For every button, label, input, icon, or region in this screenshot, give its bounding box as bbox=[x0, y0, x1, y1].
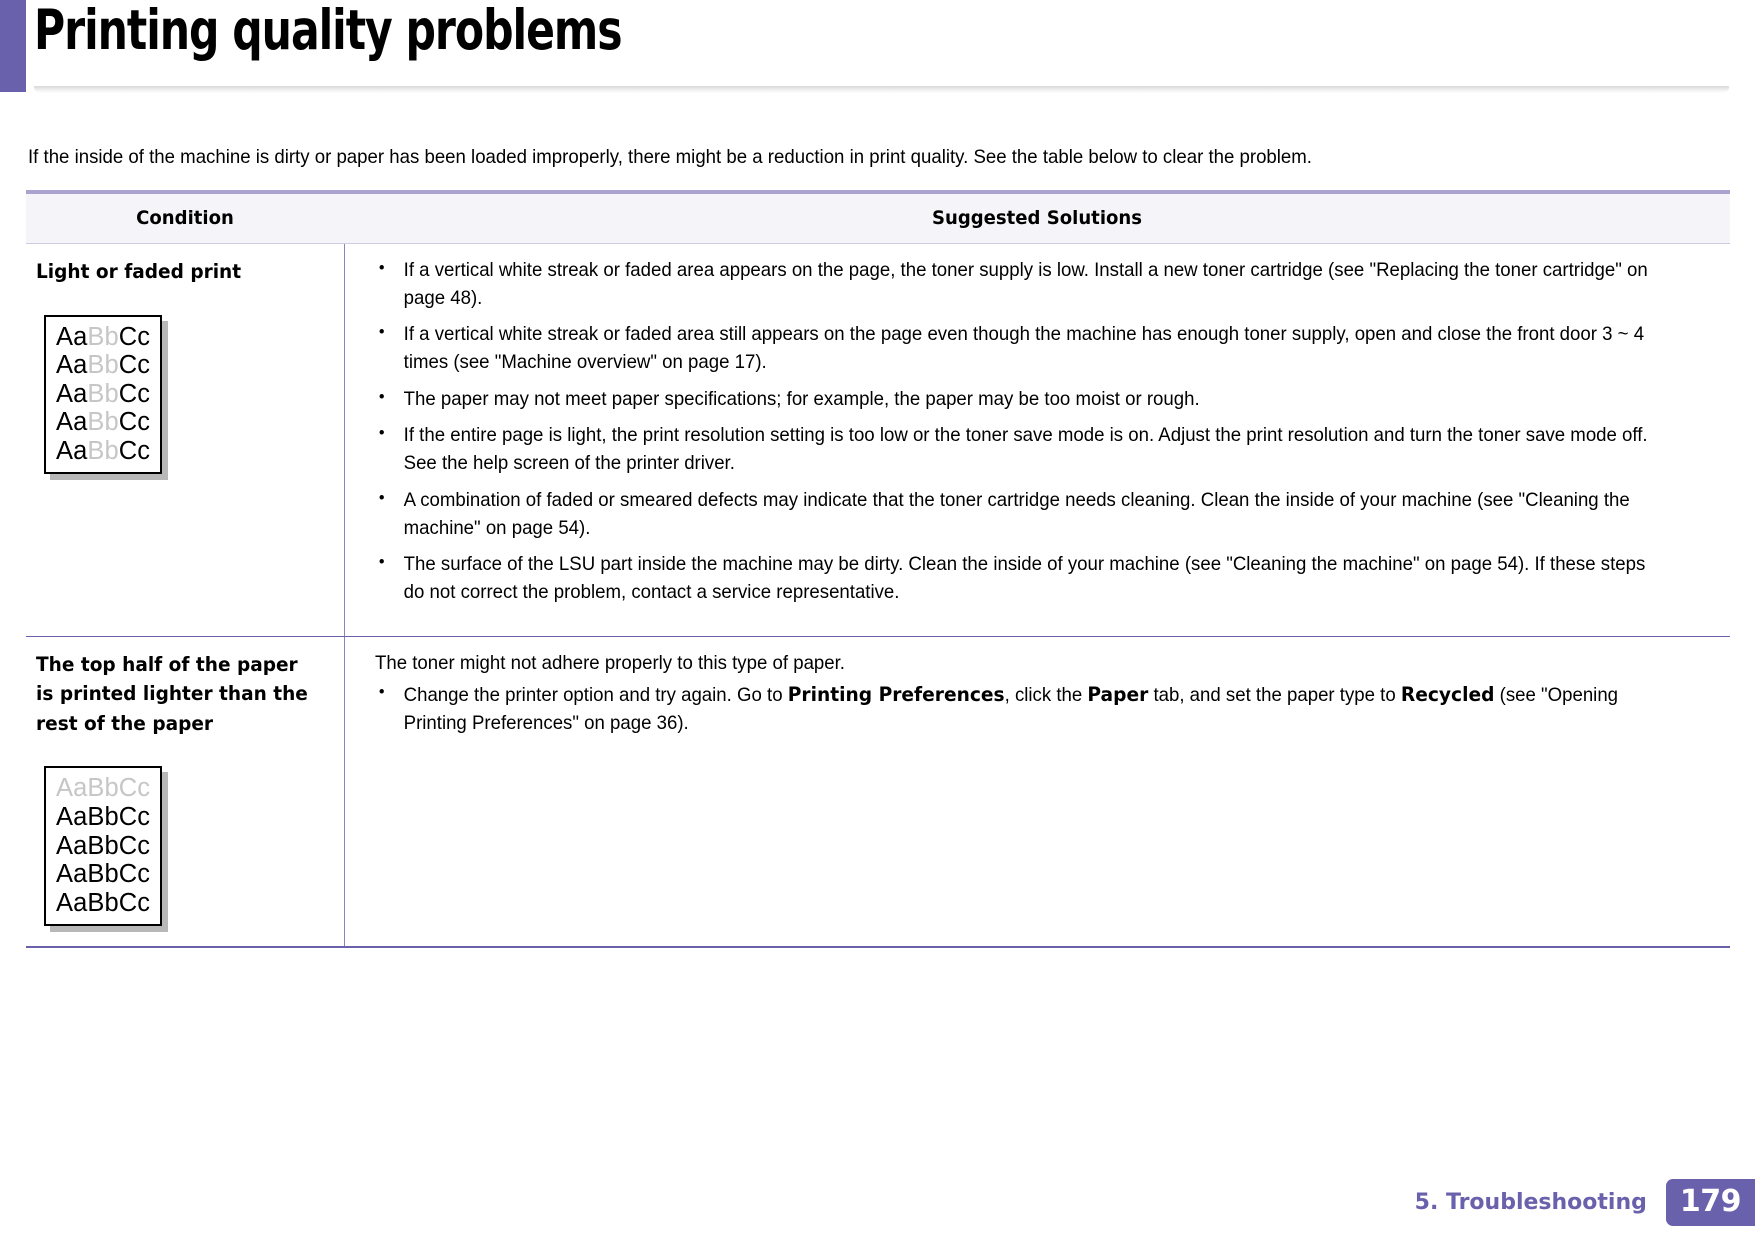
bullet-text: Change the printer option and try again.… bbox=[403, 684, 787, 706]
sample-text-segment: Aa bbox=[56, 380, 87, 408]
sample-text-segment: Aa bbox=[56, 323, 87, 351]
solution-bullet: If a vertical white streak or faded area… bbox=[375, 321, 1658, 376]
sample-page: AaBbCcAaBbCcAaBbCcAaBbCcAaBbCc bbox=[44, 766, 162, 926]
sample-text-segment: Bb bbox=[87, 380, 118, 408]
table-body: Light or faded print AaBbCcAaBbCcAaBbCcA… bbox=[26, 244, 1730, 948]
cell-condition: The top half of the paper is printed lig… bbox=[26, 636, 344, 947]
intro-paragraph: If the inside of the machine is dirty or… bbox=[28, 144, 1652, 170]
cell-condition: Light or faded print AaBbCcAaBbCcAaBbCcA… bbox=[26, 244, 344, 637]
table-header-row: Condition Suggested Solutions bbox=[26, 192, 1730, 244]
sample-text-segment: Bb bbox=[87, 351, 118, 379]
solutions-list: Change the printer option and try again.… bbox=[375, 681, 1719, 737]
solution-bullet: If a vertical white streak or faded area… bbox=[375, 257, 1658, 312]
sample-text-segment: AaBbCc bbox=[56, 860, 150, 888]
sample-text-segment: AaBbCc bbox=[56, 803, 150, 831]
sample-text-segment: AaBbCc bbox=[56, 832, 150, 860]
sample-text-segment: AaBbCc bbox=[56, 774, 150, 802]
sample-text-line: AaBbCc bbox=[56, 380, 150, 409]
sample-text-line: AaBbCc bbox=[56, 889, 150, 918]
sample-text-line: AaBbCc bbox=[56, 803, 150, 832]
page-header: Printing quality problems bbox=[0, 0, 1755, 100]
sample-print-top-half-lighter: AaBbCcAaBbCcAaBbCcAaBbCcAaBbCc bbox=[44, 766, 162, 926]
condition-title: The top half of the paper is printed lig… bbox=[36, 650, 315, 739]
sample-text-segment: Cc bbox=[119, 351, 150, 379]
bold-term: Printing Preferences bbox=[787, 683, 1004, 706]
sample-text-segment: Aa bbox=[56, 408, 87, 436]
sample-text-segment: Bb bbox=[87, 323, 118, 351]
sample-text-line: AaBbCc bbox=[56, 832, 150, 861]
condition-title: Light or faded print bbox=[36, 257, 315, 287]
sample-text-line: AaBbCc bbox=[56, 323, 150, 352]
sample-page: AaBbCcAaBbCcAaBbCcAaBbCcAaBbCc bbox=[44, 315, 162, 475]
sample-print-light-or-faded: AaBbCcAaBbCcAaBbCcAaBbCcAaBbCc bbox=[44, 315, 162, 475]
footer-page-number-badge: 179 bbox=[1666, 1179, 1755, 1226]
sample-text-segment: Bb bbox=[87, 437, 118, 465]
sample-text-segment: Aa bbox=[56, 351, 87, 379]
page-footer: 5. Troubleshooting 179 bbox=[0, 1144, 1755, 1240]
solution-bullet: If the entire page is light, the print r… bbox=[375, 422, 1658, 477]
sample-text-segment: Cc bbox=[119, 380, 150, 408]
sample-text-segment: Bb bbox=[87, 408, 118, 436]
solution-bullet: The surface of the LSU part inside the m… bbox=[375, 551, 1658, 606]
table-row: Light or faded print AaBbCcAaBbCcAaBbCcA… bbox=[26, 244, 1730, 637]
sample-text-segment: AaBbCc bbox=[56, 889, 150, 917]
header-accent-bar bbox=[0, 0, 26, 92]
sample-text-line: AaBbCc bbox=[56, 351, 150, 380]
title-divider-rule bbox=[34, 86, 1729, 93]
bullet-text: tab, and set the paper type to bbox=[1148, 684, 1401, 706]
solution-bullet: A combination of faded or smeared defect… bbox=[375, 487, 1658, 542]
bullet-text: , click the bbox=[1004, 684, 1087, 706]
printing-quality-table: Condition Suggested Solutions Light or f… bbox=[26, 190, 1730, 948]
cell-suggested-solutions: The toner might not adhere properly to t… bbox=[344, 636, 1730, 947]
solution-bullet: The paper may not meet paper specificati… bbox=[375, 386, 1658, 414]
footer-chapter-label: 5. Troubleshooting bbox=[1415, 1190, 1647, 1215]
sample-text-segment: Aa bbox=[56, 437, 87, 465]
sample-text-line: AaBbCc bbox=[56, 408, 150, 437]
column-header-condition: Condition bbox=[34, 192, 336, 244]
sample-text-segment: Cc bbox=[119, 408, 150, 436]
sample-text-segment: Cc bbox=[119, 323, 150, 351]
cell-suggested-solutions: If a vertical white streak or faded area… bbox=[344, 244, 1730, 637]
sample-text-segment: Cc bbox=[119, 437, 150, 465]
solution-intro-text: The toner might not adhere properly to t… bbox=[375, 650, 1658, 678]
solution-bullet: Change the printer option and try again.… bbox=[375, 681, 1658, 737]
sample-text-line: AaBbCc bbox=[56, 774, 150, 803]
footer-inner: 5. Troubleshooting 179 bbox=[1415, 1179, 1755, 1226]
bold-term: Paper bbox=[1087, 683, 1148, 706]
table-row: The top half of the paper is printed lig… bbox=[26, 636, 1730, 947]
bold-term: Recycled bbox=[1400, 683, 1494, 706]
page-title: Printing quality problems bbox=[34, 0, 622, 65]
column-header-suggested-solutions: Suggested Solutions bbox=[379, 192, 1696, 244]
sample-text-line: AaBbCc bbox=[56, 437, 150, 466]
sample-text-line: AaBbCc bbox=[56, 860, 150, 889]
solutions-list: If a vertical white streak or faded area… bbox=[375, 257, 1719, 607]
